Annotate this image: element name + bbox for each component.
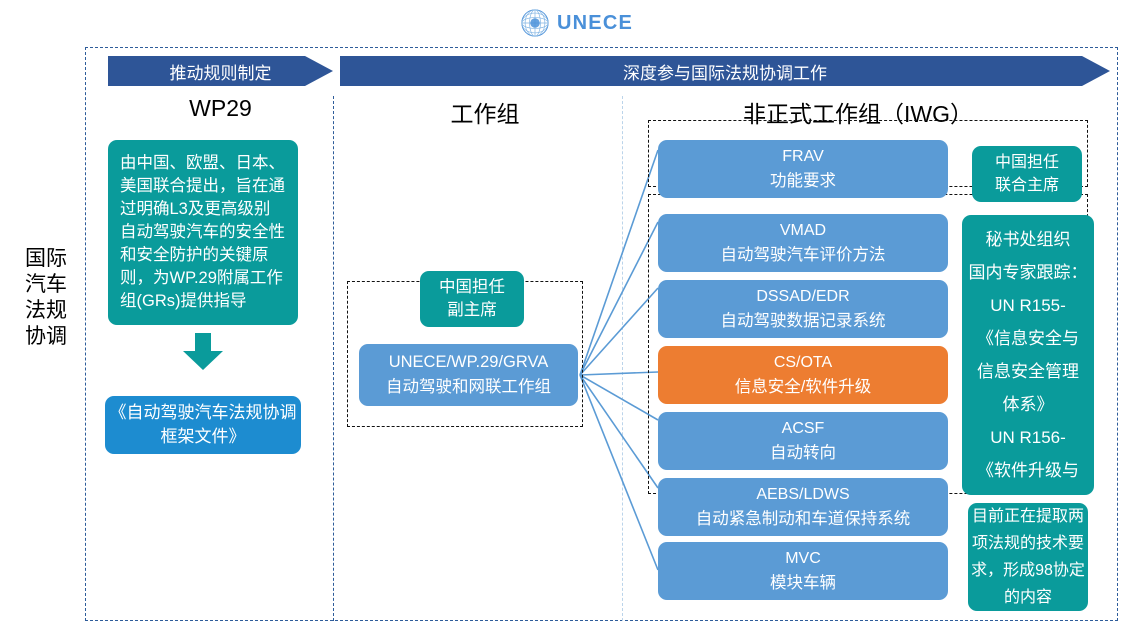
secretariat-line-5: 信息安全管理 bbox=[977, 355, 1079, 388]
iwg-code: VMAD bbox=[780, 219, 826, 243]
iwg-name: 自动驾驶数据记录系统 bbox=[721, 309, 886, 333]
iwg-box-vmad[interactable]: VMAD自动驾驶汽车评价方法 bbox=[658, 214, 948, 272]
iwg-name: 功能要求 bbox=[770, 169, 836, 193]
iwg-box-dssad-edr[interactable]: DSSAD/EDR自动驾驶数据记录系统 bbox=[658, 280, 948, 338]
section-title-line-4: 协调 bbox=[8, 324, 84, 350]
iwg-name: 自动转向 bbox=[770, 441, 836, 465]
secretariat-line-1: 秘书处组织 bbox=[986, 223, 1071, 256]
column-separator-2 bbox=[622, 96, 623, 621]
section-title-line-3: 法规 bbox=[8, 298, 84, 324]
secretariat-line-3: UN R155- bbox=[990, 289, 1066, 322]
secretariat-tracking-box: 秘书处组织国内专家跟踪：UN R155-《信息安全与信息安全管理体系》UN R1… bbox=[962, 215, 1094, 495]
column-separator-1 bbox=[333, 96, 334, 621]
iwg-name: 自动紧急制动和车道保持系统 bbox=[696, 507, 911, 531]
china-co-chair-badge: 中国担任 联合主席 bbox=[972, 146, 1082, 202]
iwg-box-cs-ota[interactable]: CS/OTA信息安全/软件升级 bbox=[658, 346, 948, 404]
china-vice-chair-line-1: 中国担任 bbox=[439, 276, 505, 299]
iwg-code: ACSF bbox=[782, 417, 825, 441]
iwg-code: FRAV bbox=[782, 145, 823, 169]
china-co-chair-line-2: 联合主席 bbox=[995, 174, 1059, 197]
wp29-framework-document-box: 《自动驾驶汽车法规协调框架文件》 bbox=[105, 396, 301, 454]
banner-right-label: 深度参与国际法规协调工作 bbox=[623, 59, 827, 84]
section-title-line-2: 汽车 bbox=[8, 272, 84, 298]
banner-left-label: 推动规则制定 bbox=[170, 59, 272, 84]
china-vice-chair-badge: 中国担任 副主席 bbox=[420, 271, 524, 327]
unece-logo: UNECE bbox=[520, 6, 680, 40]
iwg-name: 自动驾驶汽车评价方法 bbox=[721, 243, 886, 267]
secretariat-line-2: 国内专家跟踪： bbox=[969, 256, 1088, 289]
down-arrow-icon bbox=[181, 333, 225, 371]
wp29-description-text: 由中国、欧盟、日本、美国联合提出，旨在通过明确L3及更高级别自动驾驶汽车的安全性… bbox=[120, 152, 286, 313]
page-title: 国际汽车法规协调 bbox=[8, 246, 84, 350]
iwg-box-frav[interactable]: FRAV功能要求 bbox=[658, 140, 948, 198]
banner-international-harmonization: 深度参与国际法规协调工作 bbox=[340, 56, 1110, 86]
china-co-chair-line-1: 中国担任 bbox=[995, 151, 1059, 174]
iwg-name: 信息安全/软件升级 bbox=[735, 375, 872, 399]
unece-logo-text: UNECE bbox=[557, 12, 633, 35]
secretariat-line-6: 体系》 bbox=[1003, 388, 1054, 421]
wp29-description-box: 由中国、欧盟、日本、美国联合提出，旨在通过明确L3及更高级别自动驾驶汽车的安全性… bbox=[108, 140, 298, 325]
current-work-box: 目前正在提取两项法规的技术要求，形成98协定的内容 bbox=[968, 503, 1088, 611]
secretariat-line-4: 《信息安全与 bbox=[977, 322, 1079, 355]
iwg-box-aebs-ldws[interactable]: AEBS/LDWS自动紧急制动和车道保持系统 bbox=[658, 478, 948, 536]
china-vice-chair-line-2: 副主席 bbox=[447, 299, 497, 322]
globe-icon bbox=[520, 8, 550, 38]
iwg-name: 模块车辆 bbox=[770, 571, 836, 595]
section-title-line-1: 国际 bbox=[8, 246, 84, 272]
grva-code: UNECE/WP.29/GRVA bbox=[389, 350, 549, 375]
grva-name: 自动驾驶和网联工作组 bbox=[386, 375, 551, 400]
iwg-code: DSSAD/EDR bbox=[756, 285, 849, 309]
secretariat-line-7: UN R156- bbox=[990, 421, 1066, 454]
iwg-code: MVC bbox=[785, 547, 821, 571]
heading-wp29: WP29 bbox=[108, 95, 333, 122]
banner-promote-rulemaking: 推动规则制定 bbox=[108, 56, 333, 86]
iwg-box-acsf[interactable]: ACSF自动转向 bbox=[658, 412, 948, 470]
grva-box: UNECE/WP.29/GRVA 自动驾驶和网联工作组 bbox=[359, 344, 578, 406]
iwg-box-mvc[interactable]: MVC模块车辆 bbox=[658, 542, 948, 600]
current-work-text: 目前正在提取两项法规的技术要求，形成98协定的内容 bbox=[968, 503, 1088, 611]
iwg-code: AEBS/LDWS bbox=[756, 483, 849, 507]
heading-working-group: 工作组 bbox=[352, 95, 618, 129]
iwg-code: CS/OTA bbox=[774, 351, 832, 375]
wp29-framework-document-text: 《自动驾驶汽车法规协调框架文件》 bbox=[105, 401, 301, 449]
secretariat-line-8: 《软件升级与 bbox=[977, 454, 1079, 487]
